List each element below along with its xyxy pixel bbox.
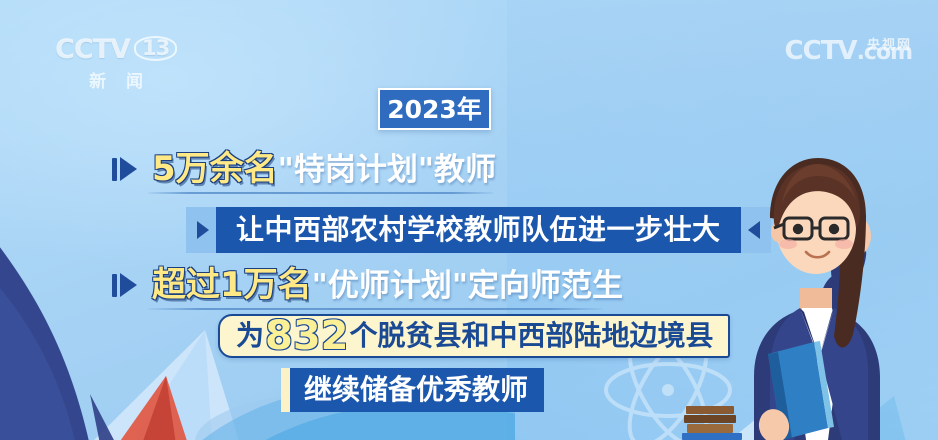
detail-banner: 为832个脱贫县和中西部陆地边境县	[218, 314, 730, 358]
play-bullet-icon-2	[112, 273, 137, 297]
statement-bar-2-body: 继续储备优秀教师	[290, 368, 544, 412]
headline-1-underline	[148, 192, 493, 194]
broadcast-slide: CCTV13 新 闻 央视网 CCTV.com 2023年 5万余名"特岗计划"…	[0, 0, 938, 440]
statement-bar-2-accent	[281, 368, 290, 412]
headline-2-highlight: 超过1万名	[152, 265, 312, 305]
statement-bar-1-left-chevron	[186, 207, 216, 253]
headline-2-underline	[148, 308, 603, 310]
headline-row-2: 超过1万名"优师计划"定向师范生	[152, 268, 623, 302]
statement-bar-1-body: 让中西部农村学校教师队伍进一步壮大	[216, 207, 741, 253]
headline-1-highlight: 5万余名	[152, 149, 278, 189]
year-badge-label: 2023年	[387, 97, 482, 122]
statement-bar-2-label: 继续储备优秀教师	[304, 376, 528, 404]
detail-banner-suffix: 个脱贫县和中西部陆地边境县	[350, 322, 714, 350]
statement-bar-1: 让中西部农村学校教师队伍进一步壮大	[186, 207, 771, 253]
play-bullet-icon-1	[112, 157, 137, 181]
headline-row-1: 5万余名"特岗计划"教师	[152, 152, 496, 186]
year-badge: 2023年	[378, 88, 491, 130]
female-teacher-illustration	[708, 140, 938, 440]
detail-banner-prefix: 为	[236, 322, 264, 350]
detail-banner-number: 832	[265, 316, 349, 356]
statement-bar-1-label: 让中西部农村学校教师队伍进一步壮大	[236, 216, 721, 244]
headline-2-rest: "优师计划"定向师范生	[312, 268, 623, 304]
statement-bar-2: 继续储备优秀教师	[281, 368, 544, 412]
headline-1-rest: "特岗计划"教师	[278, 152, 496, 188]
